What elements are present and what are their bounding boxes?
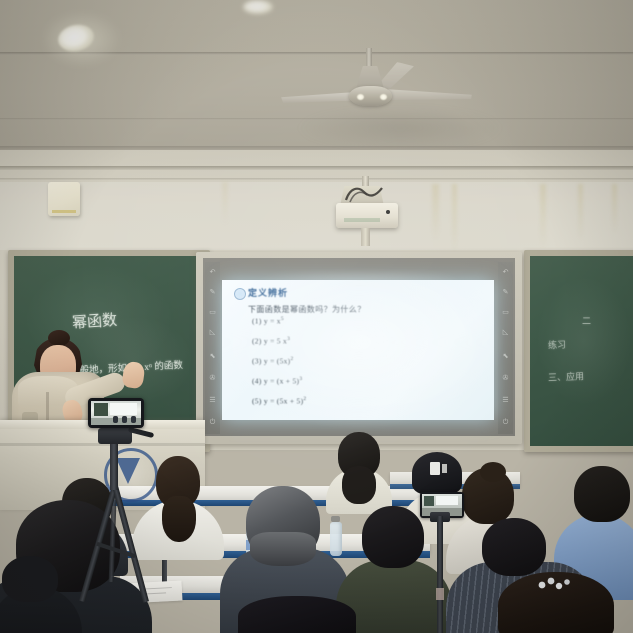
- slide-item: (4) y = (x + 5)3: [252, 376, 302, 386]
- projector-brand-label: [344, 218, 380, 222]
- slide-item-exponent: 2: [290, 356, 293, 362]
- slide-item: (2) y = 5 x3: [252, 336, 290, 346]
- ceiling-fan-light-icon: [357, 94, 364, 100]
- slide-item-number: (4): [252, 377, 262, 386]
- eraser-icon[interactable]: ▭: [501, 308, 510, 317]
- select-icon[interactable]: ⬉: [501, 352, 510, 361]
- slide-question: 下面函数是幂函数吗？为什么？: [248, 304, 366, 315]
- pen-icon[interactable]: ✎: [501, 288, 510, 297]
- hair-clip-icon: [534, 576, 576, 594]
- wall-stain: [222, 182, 228, 226]
- projector-led-icon: [386, 210, 390, 214]
- wall-rail: [0, 166, 633, 170]
- fan-shadow: [300, 108, 500, 148]
- tripod-with-phone-left[interactable]: [88, 398, 144, 428]
- bottle-cap-icon: [331, 516, 340, 522]
- slide-item-exponent: 2: [303, 396, 306, 402]
- slide-item-number: (1): [252, 317, 262, 326]
- wall-stain: [432, 184, 439, 242]
- chalk-line: 幂函数: [71, 308, 117, 332]
- slide-item-expr: y = (5x): [264, 357, 291, 366]
- exit-icon[interactable]: ⏻: [501, 418, 510, 427]
- lightbulb-icon: [234, 288, 246, 300]
- undo-icon[interactable]: ↶: [501, 268, 510, 277]
- whiteboard-toolbar-right[interactable]: ↶ ✎ ▭ ◺ ⬉ ✇ ☰ ⏻: [498, 262, 513, 434]
- shapes-icon[interactable]: ◺: [208, 328, 217, 337]
- wall-stain: [540, 184, 546, 248]
- water-bottle-right: [330, 522, 342, 556]
- select-icon[interactable]: ⬉: [208, 352, 217, 361]
- menu-icon[interactable]: ☰: [501, 396, 510, 405]
- wall-speaker-stripe: [52, 210, 76, 213]
- tripod-tag-right: [436, 588, 444, 600]
- tripod-column-right: [437, 516, 443, 633]
- slide-item-exponent: 3: [287, 336, 290, 342]
- slide-item-number: (3): [252, 357, 262, 366]
- save-icon[interactable]: ✇: [208, 374, 217, 383]
- slide-title: 定义辨析: [248, 286, 288, 299]
- classroom-photo: 幂函数 形如 一般地，形如 y = xᵅ 的函数 幂函数 x 是自变量 二 练习…: [0, 0, 633, 633]
- phone-preview-left: [91, 401, 141, 425]
- tripod-head-left[interactable]: [98, 428, 132, 444]
- slide-item: (3) y = (5x)2: [252, 356, 294, 366]
- slide-item-expr: y = 5 x: [264, 337, 287, 346]
- save-icon[interactable]: ✇: [501, 374, 510, 383]
- slide-item-exponent: 3: [299, 376, 302, 382]
- recessed-ceiling-light-center-icon: [243, 0, 273, 14]
- slide-item-expr: y = (x + 5): [264, 377, 300, 386]
- projector-lens-stem: [361, 228, 370, 246]
- chalk-line: 二: [582, 314, 591, 327]
- slide-item-exponent: 5: [281, 316, 284, 322]
- shapes-icon[interactable]: ◺: [501, 328, 510, 337]
- undo-icon[interactable]: ↶: [208, 268, 217, 277]
- ceiling-fan-light-icon: [380, 94, 387, 100]
- projected-slide: 定义辨析 下面函数是幂函数吗？为什么？ (1) y = x5 (2) y = 5…: [222, 280, 494, 420]
- slide-item-number: (2): [252, 337, 262, 346]
- wall-panel: [0, 182, 633, 250]
- right-chalkboard: 二 练习 三、应用: [524, 250, 633, 452]
- ceiling-projector: [336, 203, 398, 228]
- wall-stain: [578, 184, 583, 240]
- menu-icon[interactable]: ☰: [208, 396, 217, 405]
- tripod-column-left: [110, 442, 118, 490]
- wall-stain: [452, 184, 457, 254]
- eraser-icon[interactable]: ▭: [208, 308, 217, 317]
- chalk-line: 三、应用: [548, 369, 584, 383]
- pen-icon[interactable]: ✎: [208, 288, 217, 297]
- slide-item: (1) y = x5: [252, 316, 284, 326]
- slide-item-expr: y = (5x + 5): [264, 397, 304, 406]
- teacher-hair-bun: [48, 330, 70, 346]
- slide-item: (5) y = (5x + 5)2: [252, 396, 306, 406]
- whiteboard-toolbar-left[interactable]: ↶ ✎ ▭ ◺ ⬉ ✇ ☰ ⏻: [205, 262, 220, 434]
- chalk-line: 练习: [548, 338, 566, 352]
- cap-logo-icon: [430, 462, 440, 475]
- exit-icon[interactable]: ⏻: [208, 418, 217, 427]
- wall-rail: [0, 178, 633, 180]
- projector-cable-icon: [344, 184, 386, 204]
- slide-item-number: (5): [252, 397, 262, 406]
- slide-item-expr: y = x: [264, 317, 281, 326]
- wall-stain: [612, 184, 617, 234]
